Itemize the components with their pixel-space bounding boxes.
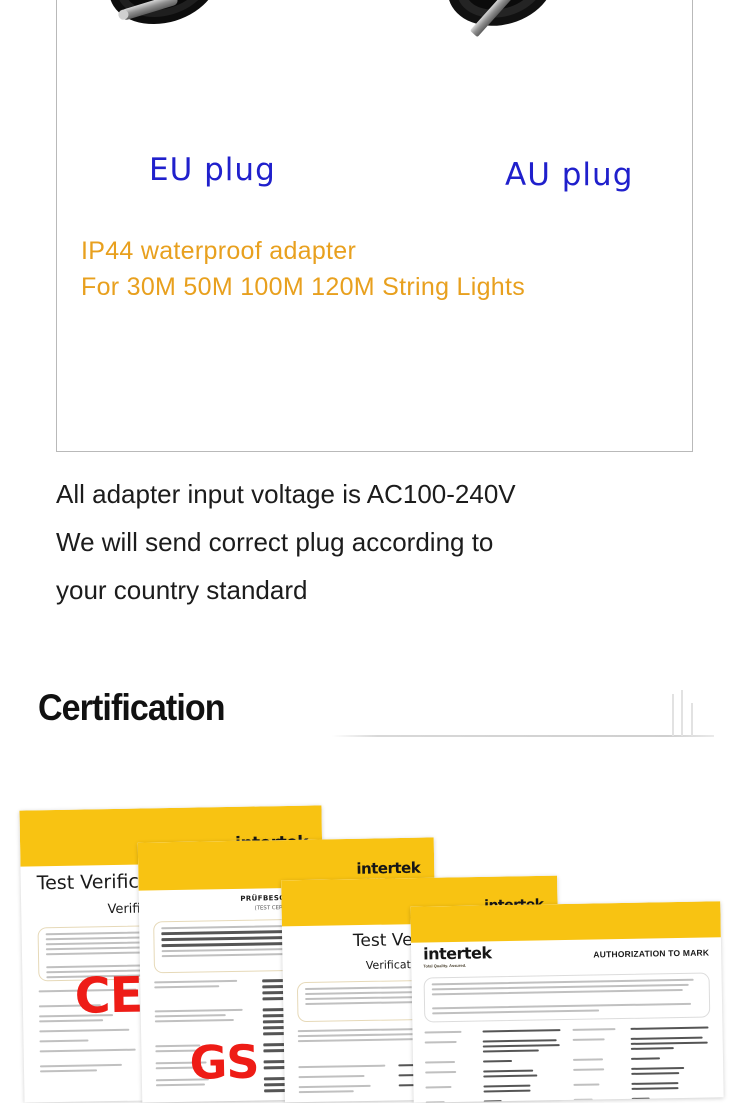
voltage-note: All adapter input voltage is AC100-240V … (56, 470, 716, 614)
certificate-card[interactable]: intertek Total Quality. Assured. AUTHORI… (410, 901, 723, 1102)
promo-text: IP44 waterproof adapter For 30M 50M 100M… (81, 233, 681, 305)
note-line-3: your country standard (56, 566, 716, 614)
party-details (424, 1027, 711, 1103)
certification-header: Certification (0, 690, 750, 760)
au-plug-label: AU plug (505, 157, 633, 193)
eu-plug-label: EU plug (149, 152, 276, 188)
note-line-2: We will send correct plug according to (56, 518, 716, 566)
eu-plug-image (77, 0, 307, 60)
section-title: Certification (38, 687, 225, 729)
plug-showcase-frame: EU plug AU plug IP44 waterproof adapter … (56, 0, 693, 452)
authorization-heading: AUTHORIZATION TO MARK (593, 948, 709, 960)
ce-mark: CE (74, 971, 142, 1021)
authorization-paragraphs (424, 973, 711, 1023)
applicant-column (424, 1029, 563, 1103)
certificate-stack: intertek Total Quality. Assured. Test Ve… (0, 800, 750, 1100)
manufacturer-column (572, 1027, 711, 1103)
header-divider (332, 735, 714, 737)
gs-mark: GS (189, 1039, 259, 1086)
decorative-bars-icon (672, 690, 706, 736)
note-line-1: All adapter input voltage is AC100-240V (56, 470, 716, 518)
promo-line-1: IP44 waterproof adapter (81, 233, 681, 269)
promo-line-2: For 30M 50M 100M 120M String Lights (81, 269, 681, 305)
certificate-band (410, 901, 721, 942)
intertek-logo: intertek Total Quality. Assured. (423, 945, 492, 968)
certificate-body: intertek Total Quality. Assured. AUTHORI… (411, 941, 724, 1102)
au-plug-image (417, 0, 647, 64)
product-detail-page: EU plug AU plug IP44 waterproof adapter … (0, 0, 750, 1073)
